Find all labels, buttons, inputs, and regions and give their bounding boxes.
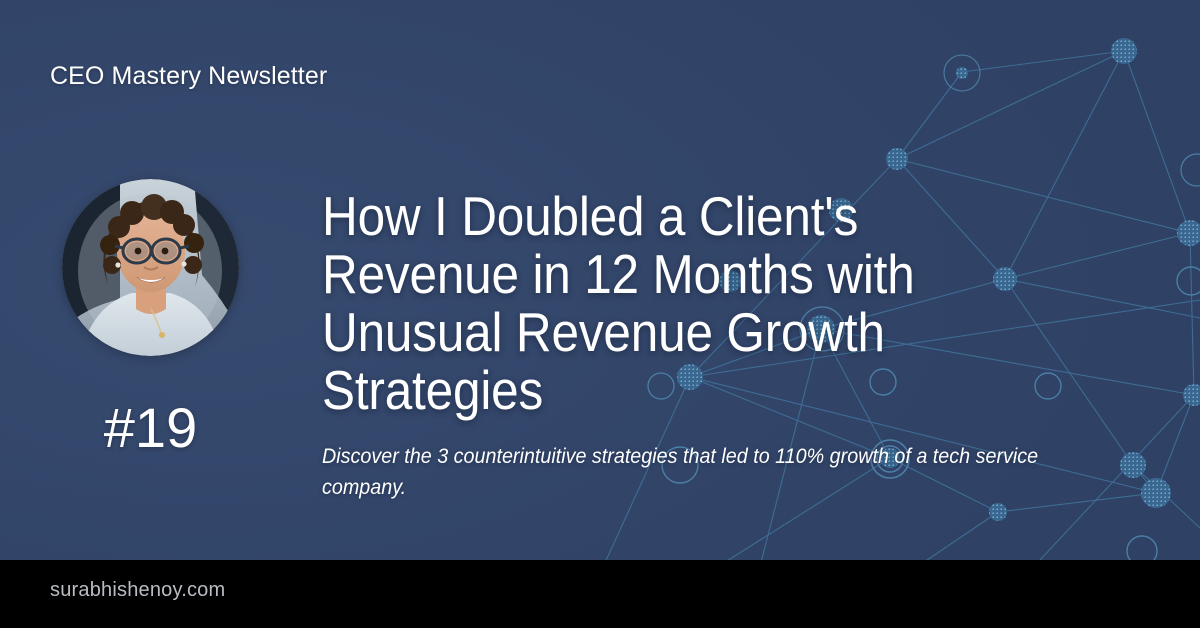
page-subtitle: Discover the 3 counterintuitive strategi… [322,441,1074,503]
page-title: How I Doubled a Client's Revenue in 12 M… [322,187,1033,419]
newsletter-cover-card: CEO Mastery Newsletter [0,0,1200,628]
site-url[interactable]: surabhishenoy.com [50,579,225,602]
footer-bar: surabhishenoy.com [0,560,1200,628]
avatar [62,179,239,356]
newsletter-name: CEO Mastery Newsletter [50,62,327,91]
issue-number: #19 [62,400,239,456]
